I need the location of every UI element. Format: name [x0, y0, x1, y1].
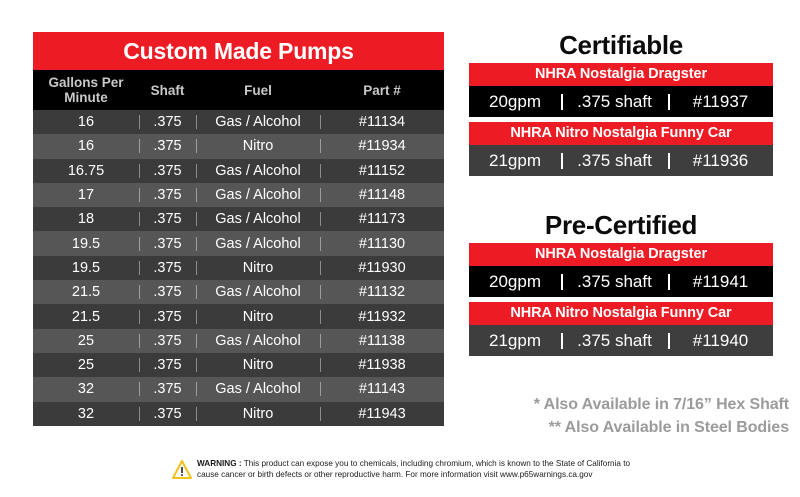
precertified-cell-gpm: 20gpm — [469, 272, 561, 292]
precertified-cell-shaft: .375 shaft — [561, 331, 668, 351]
certifiable-table: NHRA Nostalgia Dragster20gpm.375 shaft#1… — [469, 63, 773, 176]
pumps-cell-fuel: Gas / Alcohol — [196, 211, 320, 227]
pumps-header-part: Part # — [320, 83, 444, 98]
pumps-cell-fuel: Gas / Alcohol — [196, 284, 320, 300]
pumps-header-gallons-per-minute: Gallons Per Minute — [33, 75, 139, 105]
prop65-warning-label-bold: WARNING : — [197, 459, 242, 468]
pumps-cell-fuel: Gas / Alcohol — [196, 333, 320, 349]
pumps-cell-gpm: 21.5 — [33, 309, 139, 325]
pumps-table-body: 16.375Gas / Alcohol#1113416.375Nitro#119… — [33, 110, 444, 426]
pumps-cell-fuel: Gas / Alcohol — [196, 114, 320, 130]
pumps-cell-fuel: Gas / Alcohol — [196, 187, 320, 203]
pumps-cell-gpm: 19.5 — [33, 260, 139, 276]
pumps-cell-part: #11152 — [320, 163, 444, 179]
pumps-header-gpm-line2: Minute — [33, 90, 139, 105]
pumps-cell-gpm: 16.75 — [33, 163, 139, 179]
pumps-cell-gpm: 17 — [33, 187, 139, 203]
pumps-cell-shaft: .375 — [139, 357, 196, 373]
pumps-cell-part: #11938 — [320, 357, 444, 373]
pumps-cell-part: #11138 — [320, 333, 444, 349]
table-row: 19.5.375Nitro#11930 — [33, 256, 444, 280]
pumps-cell-shaft: .375 — [139, 284, 196, 300]
pumps-table-header-row: Gallons Per Minute Shaft Fuel Part # — [33, 70, 444, 110]
table-row: 32.375Gas / Alcohol#11143 — [33, 377, 444, 401]
pumps-cell-shaft: .375 — [139, 187, 196, 203]
pumps-header-fuel: Fuel — [196, 83, 320, 98]
pumps-cell-part: #11934 — [320, 138, 444, 154]
pumps-cell-shaft: .375 — [139, 309, 196, 325]
table-row: 16.75.375Gas / Alcohol#11152 — [33, 159, 444, 183]
pumps-cell-gpm: 16 — [33, 114, 139, 130]
pumps-cell-fuel: Gas / Alcohol — [196, 163, 320, 179]
certifiable-group-header: NHRA Nostalgia Dragster — [469, 63, 773, 86]
custom-made-pumps-table: Custom Made Pumps Gallons Per Minute Sha… — [33, 32, 444, 426]
table-row: 21gpm.375 shaft#11940 — [469, 325, 773, 356]
pumps-cell-gpm: 32 — [33, 406, 139, 422]
precertified-group-header: NHRA Nostalgia Dragster — [469, 243, 773, 266]
pumps-cell-shaft: .375 — [139, 406, 196, 422]
pumps-header-gpm-line1: Gallons Per — [33, 75, 139, 90]
warning-triangle-icon — [172, 460, 192, 479]
pumps-cell-gpm: 21.5 — [33, 284, 139, 300]
table-row: 21gpm.375 shaft#11936 — [469, 145, 773, 176]
pumps-cell-shaft: .375 — [139, 114, 196, 130]
pumps-cell-gpm: 19.5 — [33, 236, 139, 252]
certifiable-cell-gpm: 21gpm — [469, 151, 561, 171]
pumps-cell-gpm: 18 — [33, 211, 139, 227]
prop65-warning-line1: This product can expose you to chemicals… — [242, 459, 631, 468]
precertified-table: NHRA Nostalgia Dragster20gpm.375 shaft#1… — [469, 243, 773, 356]
certifiable-cell-shaft: .375 shaft — [561, 92, 668, 112]
pumps-cell-gpm: 25 — [33, 333, 139, 349]
pumps-cell-part: #11143 — [320, 381, 444, 397]
table-row: 16.375Gas / Alcohol#11134 — [33, 110, 444, 134]
footnote-hex-shaft: * Also Available in 7/16” Hex Shaft — [469, 393, 789, 416]
table-row: 19.5.375Gas / Alcohol#11130 — [33, 231, 444, 255]
pumps-cell-gpm: 32 — [33, 381, 139, 397]
pumps-cell-part: #11134 — [320, 114, 444, 130]
pumps-cell-fuel: Nitro — [196, 138, 320, 154]
pumps-cell-fuel: Nitro — [196, 309, 320, 325]
pumps-table-title: Custom Made Pumps — [33, 32, 444, 70]
pumps-cell-shaft: .375 — [139, 163, 196, 179]
table-row: 17.375Gas / Alcohol#11148 — [33, 183, 444, 207]
pumps-cell-shaft: .375 — [139, 138, 196, 154]
pumps-cell-shaft: .375 — [139, 333, 196, 349]
pumps-cell-shaft: .375 — [139, 381, 196, 397]
pumps-cell-fuel: Gas / Alcohol — [196, 236, 320, 252]
precertified-section-title: Pre-Certified — [469, 210, 773, 241]
precertified-cell-shaft: .375 shaft — [561, 272, 668, 292]
prop65-warning: WARNING : This product can expose you to… — [172, 459, 642, 480]
precertified-cell-part: #11941 — [668, 272, 773, 292]
pumps-header-shaft: Shaft — [139, 83, 196, 98]
pumps-cell-fuel: Nitro — [196, 260, 320, 276]
table-row: 25.375Gas / Alcohol#11138 — [33, 329, 444, 353]
precertified-cell-gpm: 21gpm — [469, 331, 561, 351]
pumps-cell-part: #11130 — [320, 236, 444, 252]
pumps-cell-part: #11930 — [320, 260, 444, 276]
certifiable-cell-gpm: 20gpm — [469, 92, 561, 112]
prop65-warning-line2: cause cancer or birth defects or other r… — [197, 470, 592, 479]
table-row: 18.375Gas / Alcohol#11173 — [33, 207, 444, 231]
pumps-cell-shaft: .375 — [139, 260, 196, 276]
pumps-cell-fuel: Nitro — [196, 406, 320, 422]
table-row: 32.375Nitro#11943 — [33, 402, 444, 426]
certifiable-cell-part: #11936 — [668, 151, 773, 171]
table-row: 20gpm.375 shaft#11941 — [469, 266, 773, 297]
table-row: 25.375Nitro#11938 — [33, 353, 444, 377]
pumps-cell-part: #11173 — [320, 211, 444, 227]
pumps-cell-gpm: 25 — [33, 357, 139, 373]
certifiable-cell-shaft: .375 shaft — [561, 151, 668, 171]
pumps-cell-part: #11932 — [320, 309, 444, 325]
prop65-warning-label: WARNING : — [197, 459, 242, 468]
pumps-cell-part: #11148 — [320, 187, 444, 203]
footnotes: * Also Available in 7/16” Hex Shaft ** A… — [469, 393, 789, 439]
pumps-cell-part: #11943 — [320, 406, 444, 422]
pumps-cell-fuel: Nitro — [196, 357, 320, 373]
certifiable-section-title: Certifiable — [469, 30, 773, 61]
certifiable-group-header: NHRA Nitro Nostalgia Funny Car — [469, 122, 773, 145]
pumps-cell-part: #11132 — [320, 284, 444, 300]
table-row: 20gpm.375 shaft#11937 — [469, 86, 773, 117]
table-row: 21.5.375Gas / Alcohol#11132 — [33, 280, 444, 304]
footnote-steel-bodies: ** Also Available in Steel Bodies — [469, 416, 789, 439]
prop65-warning-text: WARNING : This product can expose you to… — [197, 459, 630, 480]
pumps-cell-gpm: 16 — [33, 138, 139, 154]
certifiable-cell-part: #11937 — [668, 92, 773, 112]
pumps-cell-fuel: Gas / Alcohol — [196, 381, 320, 397]
table-row: 21.5.375Nitro#11932 — [33, 304, 444, 328]
precertified-cell-part: #11940 — [668, 331, 773, 351]
pumps-cell-shaft: .375 — [139, 211, 196, 227]
precertified-group-header: NHRA Nitro Nostalgia Funny Car — [469, 302, 773, 325]
pumps-cell-shaft: .375 — [139, 236, 196, 252]
table-row: 16.375Nitro#11934 — [33, 134, 444, 158]
